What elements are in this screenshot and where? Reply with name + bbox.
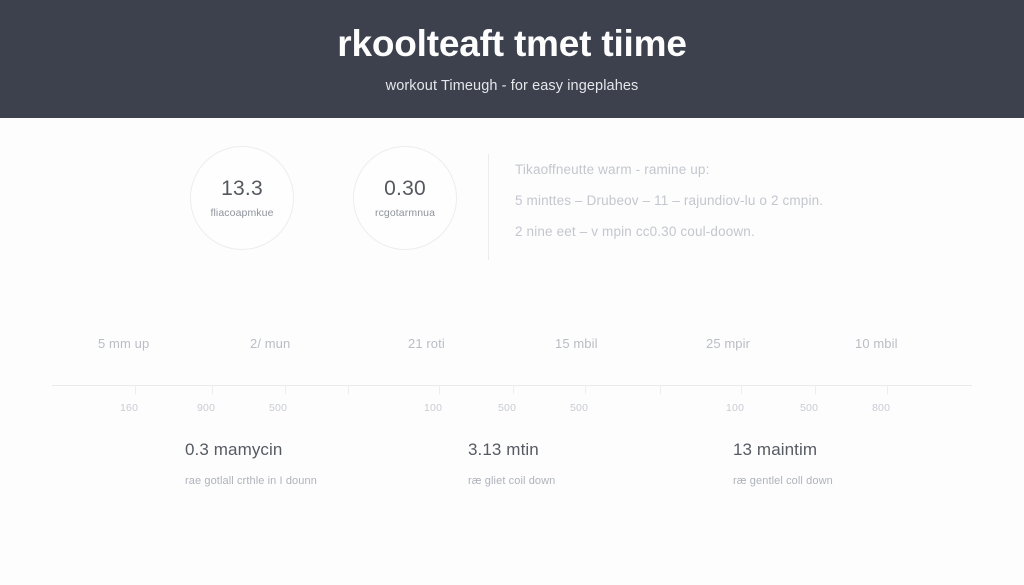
page-header: rkoolteaft tmet tiime workout Timeugh - … bbox=[0, 0, 1024, 118]
stat-label: fliacoapmkue bbox=[210, 207, 273, 219]
summary-subtitle: ræ gliet coil down bbox=[468, 475, 768, 487]
axis-tick-label: 900 bbox=[197, 402, 215, 414]
axis-tick bbox=[135, 385, 136, 394]
stat-badge-1[interactable]: 13.3 fliacoapmkue bbox=[190, 146, 294, 250]
note-line-2: 5 minttes – Drubeov – 11 – rajundiov-lu … bbox=[515, 185, 958, 216]
summary-title: 0.3 mamycin bbox=[185, 440, 485, 460]
summary-item-2: 3.13 mtin ræ gliet coil down bbox=[468, 440, 768, 487]
axis-tick-label: 500 bbox=[498, 402, 516, 414]
timeline-segment-3[interactable]: 21 roti bbox=[408, 336, 445, 351]
axis-tick bbox=[513, 385, 514, 394]
summary-section: 0.3 mamycin rae gotlall crthle in I doun… bbox=[0, 440, 1024, 530]
summary-subtitle: ræ gentlel coll down bbox=[733, 475, 1024, 487]
timeline-segment-labels: 5 mm up 2/ mun 21 roti 15 mbil 25 mpir 1… bbox=[0, 336, 1024, 362]
stat-value: 13.3 bbox=[221, 177, 263, 200]
summary-title: 13 maintim bbox=[733, 440, 1024, 460]
timeline-segment-4[interactable]: 15 mbil bbox=[555, 336, 598, 351]
notes-block: Tikaoffneutte warm - ramine up: 5 mintte… bbox=[488, 154, 958, 260]
timeline-segment-2[interactable]: 2/ mun bbox=[250, 336, 290, 351]
axis-tick-label: 500 bbox=[269, 402, 287, 414]
axis-tick-label: 500 bbox=[800, 402, 818, 414]
timeline: 5 mm up 2/ mun 21 roti 15 mbil 25 mpir 1… bbox=[0, 336, 1024, 446]
timeline-segment-1[interactable]: 5 mm up bbox=[98, 336, 149, 351]
summary-item-3: 13 maintim ræ gentlel coll down bbox=[733, 440, 1024, 487]
stat-label: rcgotarmnua bbox=[375, 207, 435, 219]
timeline-tick-labels: 160 900 500 100 500 500 100 500 800 bbox=[0, 402, 1024, 422]
axis-tick-label: 800 bbox=[872, 402, 890, 414]
stat-value: 0.30 bbox=[384, 177, 426, 200]
page-root: rkoolteaft tmet tiime workout Timeugh - … bbox=[0, 0, 1024, 585]
axis-tick bbox=[285, 385, 286, 394]
page-subtitle: workout Timeugh - for easy ingeplahes bbox=[386, 78, 639, 94]
timeline-axis-line bbox=[52, 385, 972, 386]
axis-tick bbox=[660, 385, 661, 394]
main-content: 13.3 fliacoapmkue 0.30 rcgotarmnua Tikao… bbox=[0, 118, 1024, 585]
page-title: rkoolteaft tmet tiime bbox=[337, 24, 686, 65]
timeline-segment-6[interactable]: 10 mbil bbox=[855, 336, 898, 351]
axis-tick bbox=[439, 385, 440, 394]
timeline-segment-5[interactable]: 25 mpir bbox=[706, 336, 750, 351]
axis-tick-label: 100 bbox=[424, 402, 442, 414]
stats-row: 13.3 fliacoapmkue 0.30 rcgotarmnua Tikao… bbox=[0, 146, 1024, 271]
note-line-3: 2 nine eet – v mpin cc0.30 coul-doown. bbox=[515, 216, 958, 247]
summary-title: 3.13 mtin bbox=[468, 440, 768, 460]
axis-tick-label: 100 bbox=[726, 402, 744, 414]
axis-tick bbox=[348, 385, 349, 394]
axis-tick-label: 160 bbox=[120, 402, 138, 414]
axis-tick bbox=[741, 385, 742, 394]
axis-tick-label: 500 bbox=[570, 402, 588, 414]
stat-badge-2[interactable]: 0.30 rcgotarmnua bbox=[353, 146, 457, 250]
axis-tick bbox=[585, 385, 586, 394]
axis-tick bbox=[887, 385, 888, 394]
summary-item-1: 0.3 mamycin rae gotlall crthle in I doun… bbox=[185, 440, 485, 487]
axis-tick bbox=[212, 385, 213, 394]
axis-tick bbox=[815, 385, 816, 394]
note-line-1: Tikaoffneutte warm - ramine up: bbox=[515, 154, 958, 185]
summary-subtitle: rae gotlall crthle in I dounn bbox=[185, 475, 485, 487]
